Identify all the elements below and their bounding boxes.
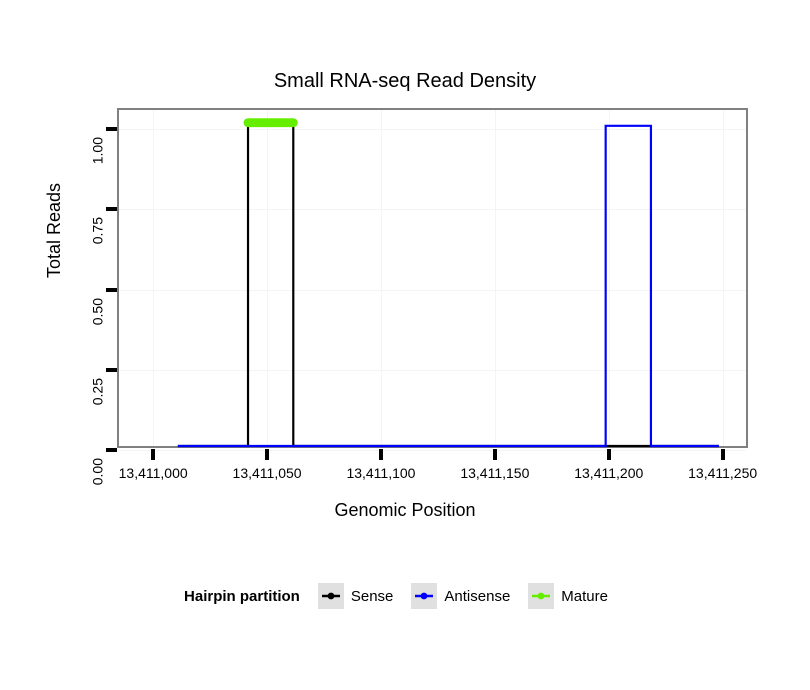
series-line-antisense <box>178 126 719 446</box>
x-tick-label: 13,411,150 <box>460 465 529 481</box>
y-tick-mark <box>106 207 117 211</box>
y-tick-label: 1.00 <box>89 137 105 164</box>
x-tick-mark <box>493 449 497 460</box>
y-tick-label: 0.75 <box>89 217 105 244</box>
x-axis-title: Genomic Position <box>0 500 810 521</box>
series-line-sense <box>178 123 719 446</box>
x-tick-label: 13,411,050 <box>233 465 302 481</box>
gridline-horizontal <box>119 450 746 451</box>
y-tick-label: 0.25 <box>89 378 105 405</box>
y-tick-label: 0.00 <box>89 458 105 485</box>
x-tick-label: 13,411,100 <box>346 465 415 481</box>
legend-key-icon <box>318 583 344 609</box>
x-tick-label: 13,411,000 <box>119 465 188 481</box>
y-tick-mark <box>106 127 117 131</box>
legend-label: Mature <box>561 588 608 605</box>
legend-key-icon <box>411 583 437 609</box>
x-tick-mark <box>151 449 155 460</box>
chart-title: Small RNA-seq Read Density <box>0 70 810 93</box>
x-tick-mark <box>607 449 611 460</box>
legend-item-antisense[interactable]: Antisense <box>411 583 510 609</box>
legend-item-sense[interactable]: Sense <box>318 583 394 609</box>
y-tick-mark <box>106 448 117 452</box>
y-tick-mark <box>106 288 117 292</box>
x-tick-mark <box>265 449 269 460</box>
legend-items: SenseAntisenseMature <box>318 583 626 609</box>
x-tick-label: 13,411,250 <box>688 465 757 481</box>
legend-key-icon <box>528 583 554 609</box>
legend-label: Sense <box>351 588 394 605</box>
x-tick-label: 13,411,200 <box>574 465 643 481</box>
chart-root: Small RNA-seq Read Density 0.000.250.500… <box>0 0 810 690</box>
legend-label: Antisense <box>444 588 510 605</box>
y-tick-mark <box>106 368 117 372</box>
plot-panel: 0.000.250.500.751.0013,411,00013,411,050… <box>117 108 748 448</box>
data-series-layer <box>119 110 746 446</box>
x-tick-mark <box>379 449 383 460</box>
y-tick-label: 0.50 <box>89 298 105 325</box>
x-tick-mark <box>721 449 725 460</box>
y-axis-title: Total Reads <box>44 183 65 278</box>
legend-item-mature[interactable]: Mature <box>528 583 608 609</box>
legend: Hairpin partition SenseAntisenseMature <box>0 583 810 609</box>
legend-title: Hairpin partition <box>184 588 300 605</box>
